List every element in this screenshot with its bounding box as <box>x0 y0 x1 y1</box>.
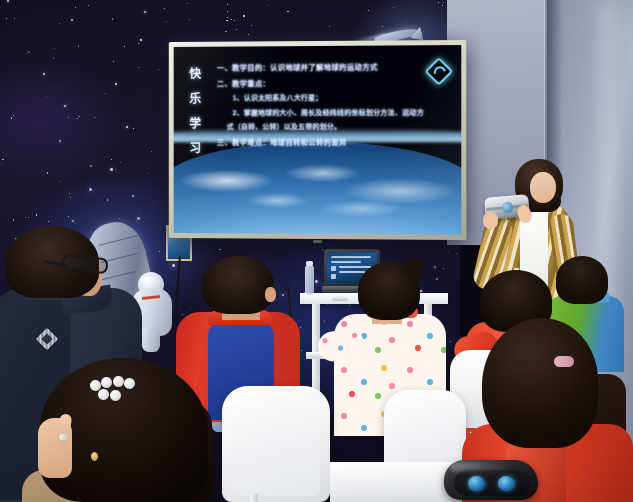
classroom-photo-scene: 快 乐 学 习 一、教学目的：认识地球并了解地球的运动方式 二、教学重点： 1、… <box>0 0 633 502</box>
vr-lens-left <box>468 476 485 491</box>
slide-line: 三、教学难点：地球自转和公转的差异 <box>217 136 449 147</box>
slide-line: 1、认识太阳系及八大行星； <box>233 93 449 104</box>
wall-mounted-display[interactable]: 快 乐 学 习 一、教学目的：认识地球并了解地球的运动方式 二、教学重点： 1、… <box>169 40 467 240</box>
earring <box>91 452 98 461</box>
slide-side-char-2: 学 <box>189 114 213 131</box>
water-bottle <box>305 265 314 295</box>
ring <box>59 434 68 440</box>
boy-hair <box>202 256 274 314</box>
computer-mouse[interactable] <box>332 296 348 301</box>
slide-line: 式（自转、公转）以及五带的划分。 <box>227 122 449 132</box>
pearl-hair-clip <box>90 378 144 392</box>
slide-line: 2、掌握地球的大小、周长及经纬线的坐标划分方法、运动方 <box>233 107 449 117</box>
slide-side-char-3: 习 <box>189 139 213 156</box>
diamond-swirl-logo-icon <box>429 61 447 79</box>
display-power-led <box>313 240 322 243</box>
presenter-face <box>530 172 556 203</box>
presenter-left-hand <box>483 212 498 229</box>
presentation-slide: 快 乐 学 习 一、教学目的：认识地球并了解地球的运动方式 二、教学重点： 1、… <box>174 45 462 235</box>
slide-line: 二、教学重点： <box>217 77 449 89</box>
vr-lens-right <box>498 476 515 491</box>
slide-side-char-0: 快 <box>189 65 213 82</box>
girl-hair <box>482 318 598 448</box>
slide-side-heading: 快 乐 学 习 <box>189 65 213 156</box>
slide-body: 一、教学目的：认识地球并了解地球的运动方式 二、教学重点： 1、认识太阳系及八大… <box>217 61 449 147</box>
hair-tie <box>554 356 574 367</box>
slide-side-char-1: 乐 <box>189 89 213 106</box>
slide-line: 一、教学目的：认识地球并了解地球的运动方式 <box>217 61 449 73</box>
vr-headset[interactable] <box>444 456 538 502</box>
